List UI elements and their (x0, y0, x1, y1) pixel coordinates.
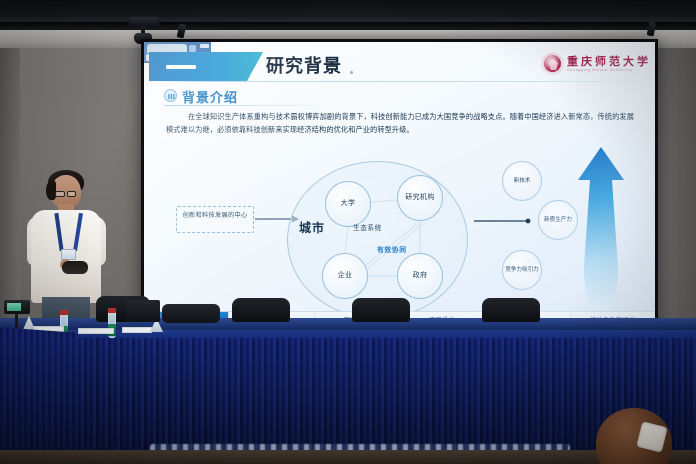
window-controls[interactable] (200, 44, 209, 48)
title-divider (149, 81, 655, 82)
chair (232, 298, 290, 322)
bottle-cap (60, 310, 68, 315)
university-seal-icon (543, 54, 562, 73)
presenter-hair-side (46, 181, 56, 200)
chart-icon (164, 89, 177, 102)
table-skirt-shading (0, 338, 696, 454)
document-papers (78, 328, 114, 334)
university-name-cn: 重庆师范大学 (567, 53, 651, 69)
document-papers (122, 327, 152, 333)
banner-number (166, 65, 196, 69)
edge-label-collaboration: 有效协同 (377, 244, 407, 254)
diagram-node-enterprise: 企业 (322, 253, 368, 299)
camera-viewfinder (7, 303, 21, 311)
edge-label-ecosystem: 生态系统 (353, 222, 382, 232)
growth-arrow-up-icon (574, 147, 628, 310)
chair (482, 298, 540, 322)
body-paragraph: 在全球知识生产体系重构与技术霸权博弈加剧的背景下，科技创新能力已成为大国竞争的战… (166, 111, 634, 136)
university-name-en: Chongqing Normal University (567, 68, 633, 72)
left-wall-edge (0, 36, 20, 336)
university-logo: 重庆师范大学 Chongqing Normal University (543, 53, 651, 78)
presentation-slide: ◀ ▶ :// 研究背景 重庆师范大学 Chongqing Normal Uni… (144, 42, 655, 327)
outcome-node-competitiveness: 竞争力吸引力 (502, 250, 542, 290)
floor (0, 450, 696, 464)
browser-tab[interactable] (147, 44, 187, 53)
outcome-node-new-technology: 新技术 (502, 161, 542, 201)
presenter-glasses-left (55, 191, 65, 197)
laptop (126, 300, 160, 322)
bottle-cap (108, 308, 116, 313)
page-title: 研究背景 (266, 55, 342, 78)
outcome-node-new-productive-forces: 新质生产力 (538, 200, 578, 240)
projection-screen: ◀ ▶ :// 研究背景 重庆师范大学 Chongqing Normal Uni… (141, 39, 658, 330)
diagram-center-label: 城市 (299, 221, 325, 235)
ceiling-truss (0, 22, 696, 30)
diagram-node-government: 政府 (397, 253, 443, 299)
presenter-clicker (62, 261, 88, 274)
section-heading: 背景介绍 (182, 87, 238, 106)
bag (162, 304, 220, 323)
presenter-glasses-right (67, 191, 76, 197)
chair (352, 298, 410, 322)
diagram-node-research-institute: 研究机构 (397, 175, 443, 221)
city-ecosystem-boundary (287, 161, 468, 319)
conference-room-scene: ◀ ▶ :// 研究背景 重庆师范大学 Chongqing Normal Uni… (0, 0, 696, 464)
title-accent-dot (350, 71, 353, 74)
diagram-node-university: 大学 (325, 181, 371, 227)
new-tab-button[interactable] (189, 45, 196, 52)
section-divider (164, 105, 332, 106)
